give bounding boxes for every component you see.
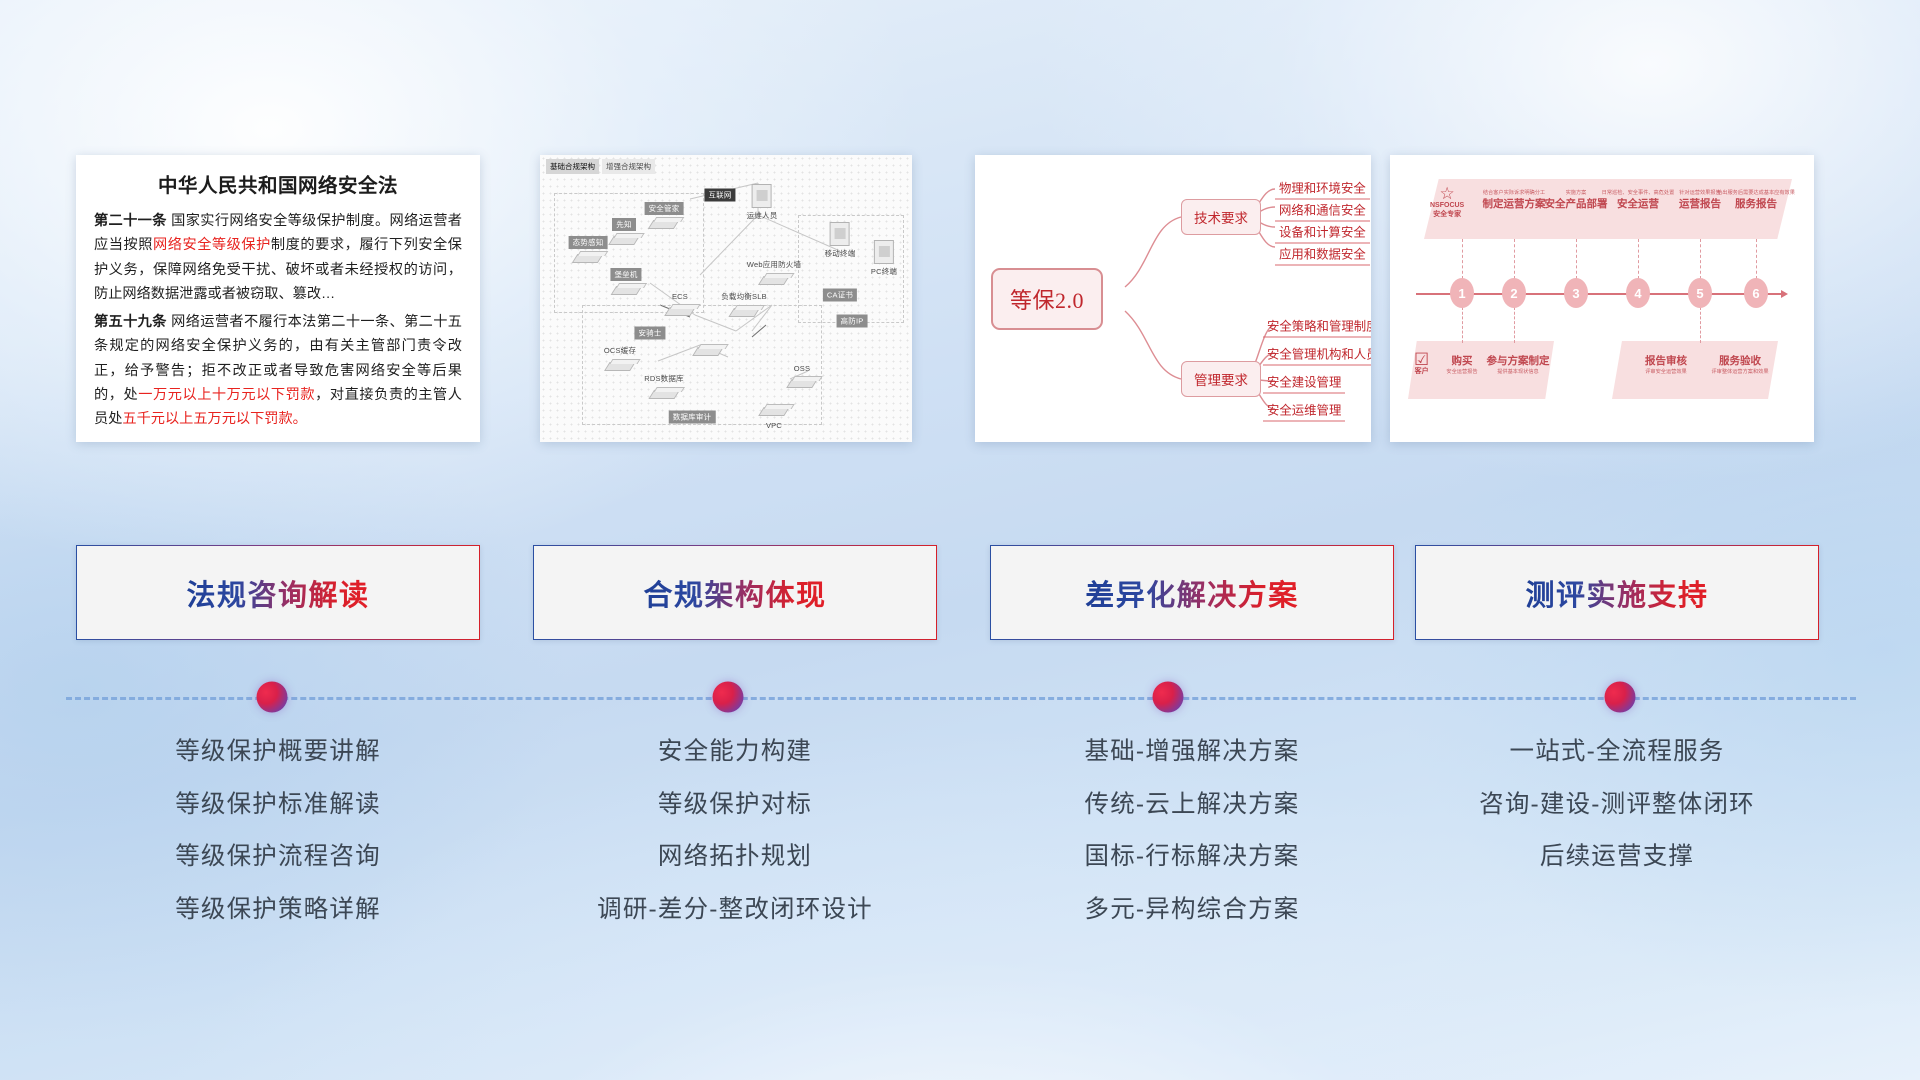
heading-compliance-architecture-label: 合规架构体现 xyxy=(643,572,826,614)
service-timeline: ☆ NSFOCUS 安全专家 ☑ 客户 结合客户实际诉求明确分工 制定运营方案 … xyxy=(1390,155,1814,442)
server-icon xyxy=(575,250,601,266)
node-xianzhi: 先知 xyxy=(611,218,637,248)
node-oss-label: OSS xyxy=(790,363,814,374)
list-item: 等级保护流程咨询 xyxy=(76,845,480,870)
article-59-highlight-1: 一万元以上十万元以下罚款 xyxy=(138,387,315,403)
node-situational-awareness: 态势感知 xyxy=(569,236,608,266)
customer-icon: ☑ xyxy=(1414,351,1429,368)
card-service-timeline: ☆ NSFOCUS 安全专家 ☑ 客户 结合客户实际诉求明确分工 制定运营方案 … xyxy=(1390,155,1814,442)
timeline-top-item-3-title: 安全运营 xyxy=(1602,196,1675,211)
mobile-icon xyxy=(830,222,850,246)
tab-basic-architecture[interactable]: 基础合规架构 xyxy=(546,159,599,174)
server-icon xyxy=(761,403,787,419)
node-oss: OSS xyxy=(789,363,815,391)
mindmap-leaf-physical-env: 物理和环境安全 xyxy=(1275,179,1370,200)
timeline-bottom-item-1: 购买 安全运营报告 xyxy=(1446,353,1477,375)
connector-9 xyxy=(1700,307,1701,343)
architecture-diagram: 基础合规架构 增强合规架构 xyxy=(540,155,912,442)
node-anti-ddos-ip-label: 高防IP xyxy=(837,315,868,328)
article-59-label: 第五十九条 xyxy=(94,314,167,330)
law-article-21: 第二十一条 国家实行网络安全等级保护制度。网络运营者应当按照网络安全等级保护制度… xyxy=(94,209,462,307)
article-21-label: 第二十一条 xyxy=(94,213,167,229)
timeline-bottom-item-1-sub: 安全运营报告 xyxy=(1446,368,1477,375)
timeline-top-item-5-sub: 给出服务后需要达成基本应有效果 xyxy=(1717,189,1795,196)
timeline-bottom-item-2-title: 参与方案制定 xyxy=(1487,353,1550,368)
list-item: 后续运营支撑 xyxy=(1415,845,1819,870)
node-ca-cert: CA证书 xyxy=(823,289,857,302)
server-icon xyxy=(611,232,637,248)
expert-name-line1: NSFOCUS xyxy=(1430,202,1464,211)
pc-icon xyxy=(874,240,894,264)
timeline-bottom-item-2: 参与方案制定 提供基本现状信息 xyxy=(1487,353,1550,375)
server-icon xyxy=(613,282,639,298)
mindmap-leaf-app-data: 应用和数据安全 xyxy=(1275,245,1370,266)
list-item: 等级保护标准解读 xyxy=(76,793,480,818)
node-ops-staff: 运维人员 xyxy=(743,184,782,222)
list-item: 多元-异构综合方案 xyxy=(990,898,1394,923)
timeline-bottom-item-4: 服务验收 评审整体运营方案和效果 xyxy=(1711,353,1768,375)
timeline-step-3: 3 xyxy=(1564,278,1588,308)
node-ecs-autoscale xyxy=(695,343,721,359)
timeline-top-item-1: 结合客户实际诉求明确分工 制定运营方案 xyxy=(1483,189,1546,211)
list-item: 咨询-建设-测评整体闭环 xyxy=(1415,793,1819,818)
column-compliance-architecture: 安全能力构建 等级保护对标 网络拓扑规划 调研-差分-整改闭环设计 xyxy=(533,740,937,950)
node-xianzhi-label: 先知 xyxy=(612,218,635,231)
list-item: 传统-云上解决方案 xyxy=(990,793,1394,818)
node-anqishi: 安骑士 xyxy=(634,327,665,340)
column-assessment-support: 一站式-全流程服务 咨询-建设-测评整体闭环 后续运营支撑 xyxy=(1415,740,1819,898)
server-icon xyxy=(651,216,677,232)
timeline-bottom-item-2-sub: 提供基本现状信息 xyxy=(1487,368,1550,375)
node-security-steward: 安全管家 xyxy=(645,202,684,232)
timeline-bead-3[interactable] xyxy=(1153,682,1184,713)
connector-1 xyxy=(1462,239,1463,279)
node-waf-label: Web应用防火墙 xyxy=(743,258,805,271)
timeline-bottom-item-3-title: 报告审核 xyxy=(1645,353,1687,368)
node-mobile-terminal-label: 移动终端 xyxy=(821,247,860,260)
node-db-audit-label: 数据库审计 xyxy=(669,411,716,424)
server-icon xyxy=(607,358,633,374)
list-item: 等级保护对标 xyxy=(533,793,937,818)
heading-differentiated-solution[interactable]: 差异化解决方案 xyxy=(990,545,1394,640)
timeline-top-item-2-sub: 实施方案 xyxy=(1545,189,1608,196)
card-cloud-architecture: 基础合规架构 增强合规架构 xyxy=(540,155,912,442)
node-pc-terminal: PC终端 xyxy=(867,240,901,278)
customer-name: 客户 xyxy=(1414,368,1429,377)
timeline-step-4: 4 xyxy=(1626,278,1650,308)
node-mobile-terminal: 移动终端 xyxy=(821,222,860,260)
article-21-highlight: 网络安全等级保护 xyxy=(153,237,271,253)
architecture-tabs: 基础合规架构 增强合规架构 xyxy=(546,159,655,174)
list-item: 调研-差分-整改闭环设计 xyxy=(533,898,937,923)
timeline-bottom-item-4-sub: 评审整体运营方案和效果 xyxy=(1711,368,1768,375)
timeline-top-item-4: 针对运营效果报告 运营报告 xyxy=(1679,189,1721,211)
heading-differentiated-solution-label: 差异化解决方案 xyxy=(1085,572,1299,614)
mindmap-leaf-ops-mgmt: 安全运维管理 xyxy=(1263,401,1345,422)
connector-2 xyxy=(1514,239,1515,279)
node-waf: Web应用防火墙 xyxy=(743,258,805,288)
expert-persona: ☆ NSFOCUS 安全专家 xyxy=(1430,185,1464,220)
timeline-bottom-item-3-sub: 评审安全运营效果 xyxy=(1645,368,1687,375)
law-document: 中华人民共和国网络安全法 第二十一条 国家实行网络安全等级保护制度。网络运营者应… xyxy=(76,155,480,442)
card-mindmap-dengbao: 等保2.0 技术要求 管理要求 物理和环境安全 网络和通信安全 设备和计算安全 … xyxy=(975,155,1371,442)
list-item: 安全能力构建 xyxy=(533,740,937,765)
mindmap-leaf-policy-system: 安全策略和管理制度 xyxy=(1263,317,1371,338)
timeline-step-5: 5 xyxy=(1688,278,1712,308)
connector-4 xyxy=(1638,239,1639,279)
expert-icon: ☆ xyxy=(1430,185,1464,202)
column-regulation-consulting: 等级保护概要讲解 等级保护标准解读 等级保护流程咨询 等级保护策略详解 xyxy=(76,740,480,950)
timeline-rail xyxy=(66,697,1856,700)
node-slb: 负载均衡SLB xyxy=(717,290,771,320)
tab-enhanced-architecture[interactable]: 增强合规架构 xyxy=(602,159,655,174)
node-ocs-cache-label: OCS缓存 xyxy=(600,344,640,357)
node-pc-terminal-label: PC终端 xyxy=(867,265,901,278)
server-icon xyxy=(789,375,815,391)
node-security-steward-label: 安全管家 xyxy=(645,202,684,215)
timeline-step-1: 1 xyxy=(1450,278,1474,308)
mindmap-leaf-build-mgmt: 安全建设管理 xyxy=(1263,373,1345,394)
timeline-step-6: 6 xyxy=(1744,278,1768,308)
node-ops-staff-label: 运维人员 xyxy=(743,209,782,222)
column-differentiated-solution: 基础-增强解决方案 传统-云上解决方案 国标-行标解决方案 多元-异构综合方案 xyxy=(990,740,1394,950)
list-item: 一站式-全流程服务 xyxy=(1415,740,1819,765)
mindmap-root: 等保2.0 xyxy=(991,268,1103,330)
cards-strip: 中华人民共和国网络安全法 第二十一条 国家实行网络安全等级保护制度。网络运营者应… xyxy=(0,0,1920,450)
article-59-highlight-2: 五千元以上五万元以下罚款。 xyxy=(122,411,306,427)
heading-compliance-architecture[interactable]: 合规架构体现 xyxy=(533,545,937,640)
node-internet: 互联网 xyxy=(704,189,735,202)
node-bastion-host: 堡垒机 xyxy=(610,268,641,298)
customer-persona: ☑ 客户 xyxy=(1414,351,1429,377)
node-anqishi-label: 安骑士 xyxy=(634,327,665,340)
mindmap: 等保2.0 技术要求 管理要求 物理和环境安全 网络和通信安全 设备和计算安全 … xyxy=(975,155,1371,442)
timeline-bottom-item-4-title: 服务验收 xyxy=(1711,353,1768,368)
node-rds: RDS数据库 xyxy=(640,372,688,402)
timeline-top-item-2: 实施方案 安全产品部署 xyxy=(1545,189,1608,211)
connector-6 xyxy=(1756,239,1757,279)
list-item: 等级保护概要讲解 xyxy=(76,740,480,765)
timeline-bottom-item-3: 报告审核 评审安全运营效果 xyxy=(1645,353,1687,375)
node-db-audit: 数据库审计 xyxy=(669,411,716,424)
node-slb-label: 负载均衡SLB xyxy=(717,290,771,303)
timeline-bead-2[interactable] xyxy=(713,682,744,713)
timeline-top-item-4-sub: 针对运营效果报告 xyxy=(1679,189,1721,196)
timeline-top-item-3: 日常巡检、安全事件、高危处置 安全运营 xyxy=(1602,189,1675,211)
timeline-top-item-5: 给出服务后需要达成基本应有效果 服务报告 xyxy=(1717,189,1795,211)
server-icon xyxy=(651,386,677,402)
node-ecs-label: ECS xyxy=(668,291,692,302)
node-internet-label: 互联网 xyxy=(704,189,735,202)
node-bastion-host-label: 堡垒机 xyxy=(610,268,641,281)
server-icon xyxy=(667,303,693,319)
law-title: 中华人民共和国网络安全法 xyxy=(94,169,462,198)
card-cybersecurity-law: 中华人民共和国网络安全法 第二十一条 国家实行网络安全等级保护制度。网络运营者应… xyxy=(76,155,480,442)
list-item: 基础-增强解决方案 xyxy=(990,740,1394,765)
mindmap-branch-technical: 技术要求 xyxy=(1181,199,1261,235)
mindmap-branch-management: 管理要求 xyxy=(1181,361,1261,397)
heading-assessment-support[interactable]: 测评实施支持 xyxy=(1415,545,1819,640)
timeline-top-item-4-title: 运营报告 xyxy=(1679,196,1721,211)
timeline-bead-4[interactable] xyxy=(1605,682,1636,713)
mindmap-leaf-org-personnel: 安全管理机构和人员 xyxy=(1263,345,1371,366)
timeline-top-item-3-sub: 日常巡检、安全事件、高危处置 xyxy=(1602,189,1675,196)
server-icon xyxy=(731,304,757,320)
heading-regulation-consulting-label: 法规咨询解读 xyxy=(186,572,369,614)
node-anti-ddos-ip: 高防IP xyxy=(837,315,868,328)
expert-name-line2: 安全专家 xyxy=(1430,211,1464,220)
law-article-59: 第五十九条 网络运营者不履行本法第二十一条、第二十五条规定的网络安全保护义务的，… xyxy=(94,310,462,432)
mindmap-leaf-network-comm: 网络和通信安全 xyxy=(1275,201,1370,222)
timeline-step-2: 2 xyxy=(1502,278,1526,308)
timeline-top-item-2-title: 安全产品部署 xyxy=(1545,196,1608,211)
server-icon xyxy=(761,272,787,288)
bullet-columns: 等级保护概要讲解 等级保护标准解读 等级保护流程咨询 等级保护策略详解 安全能力… xyxy=(0,740,1920,1000)
node-ocs-cache: OCS缓存 xyxy=(600,344,640,374)
timeline-bottom-item-1-title: 购买 xyxy=(1446,353,1477,368)
heading-regulation-consulting[interactable]: 法规咨询解读 xyxy=(76,545,480,640)
timeline-top-item-1-title: 制定运营方案 xyxy=(1483,196,1546,211)
list-item: 国标-行标解决方案 xyxy=(990,845,1394,870)
mindmap-leaf-device-compute: 设备和计算安全 xyxy=(1275,223,1370,244)
monitor-icon xyxy=(752,184,772,208)
headings-row: 法规咨询解读 合规架构体现 差异化解决方案 测评实施支持 xyxy=(0,545,1920,645)
node-ecs: ECS xyxy=(667,291,693,319)
node-ca-cert-label: CA证书 xyxy=(823,289,857,302)
heading-assessment-support-label: 测评实施支持 xyxy=(1525,572,1708,614)
list-item: 网络拓扑规划 xyxy=(533,845,937,870)
connector-3 xyxy=(1576,239,1577,279)
server-icon xyxy=(695,343,721,359)
connector-8 xyxy=(1514,307,1515,343)
node-vpc: VPC xyxy=(761,403,787,431)
node-rds-label: RDS数据库 xyxy=(640,372,688,385)
timeline-top-item-5-title: 服务报告 xyxy=(1717,196,1795,211)
timeline-bead-1[interactable] xyxy=(257,682,288,713)
node-vpc-label: VPC xyxy=(762,420,786,431)
node-situational-awareness-label: 态势感知 xyxy=(569,236,608,249)
list-item: 等级保护策略详解 xyxy=(76,898,480,923)
connector-5 xyxy=(1700,239,1701,279)
connector-7 xyxy=(1462,307,1463,343)
timeline-top-item-1-sub: 结合客户实际诉求明确分工 xyxy=(1483,189,1546,196)
